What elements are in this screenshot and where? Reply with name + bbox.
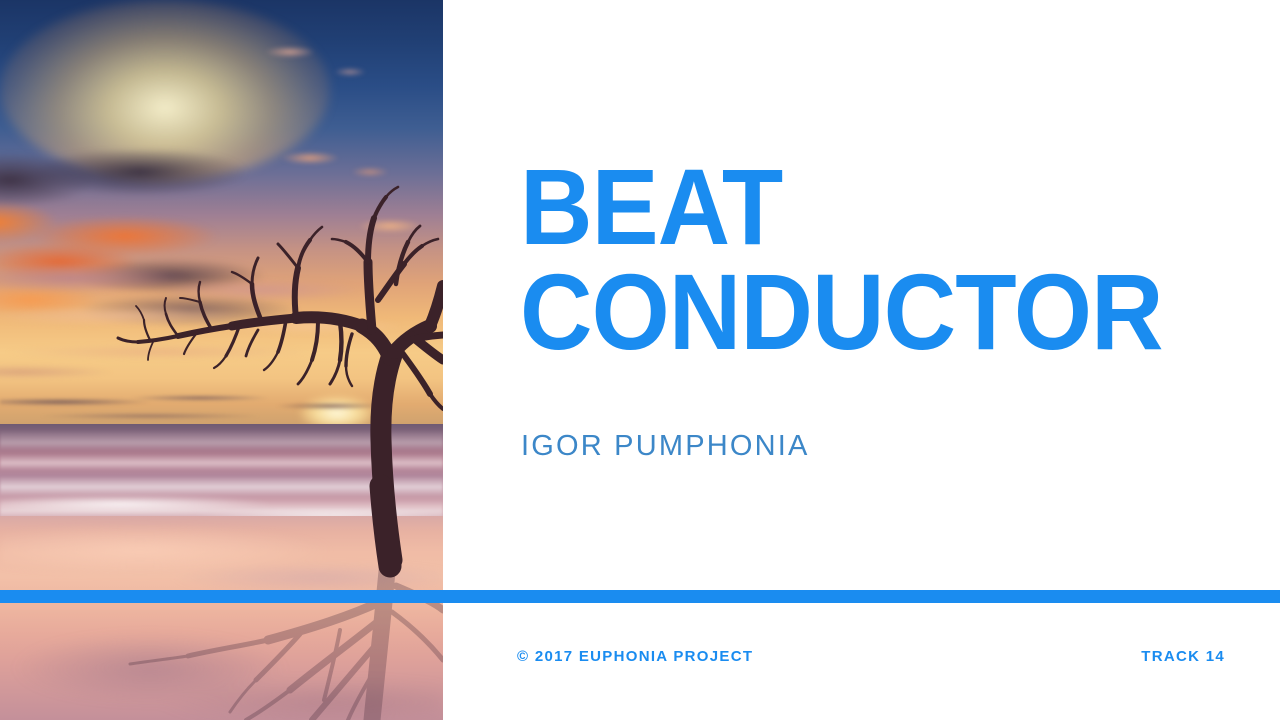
- page-title: BEAT CONDUCTOR: [520, 155, 1208, 365]
- tree-silhouette-icon: [0, 0, 443, 720]
- copyright-text: © 2017 EUPHONIA PROJECT: [517, 648, 753, 665]
- title-slide: BEAT CONDUCTOR IGOR PUMPHONIA © 2017 EUP…: [0, 0, 1280, 720]
- footer: © 2017 EUPHONIA PROJECT TRACK 14: [443, 603, 1280, 720]
- artist-subtitle: IGOR PUMPHONIA: [521, 430, 810, 463]
- hero-photo: [0, 0, 443, 720]
- accent-divider-bar: [0, 590, 1280, 603]
- track-label: TRACK 14: [1141, 648, 1225, 665]
